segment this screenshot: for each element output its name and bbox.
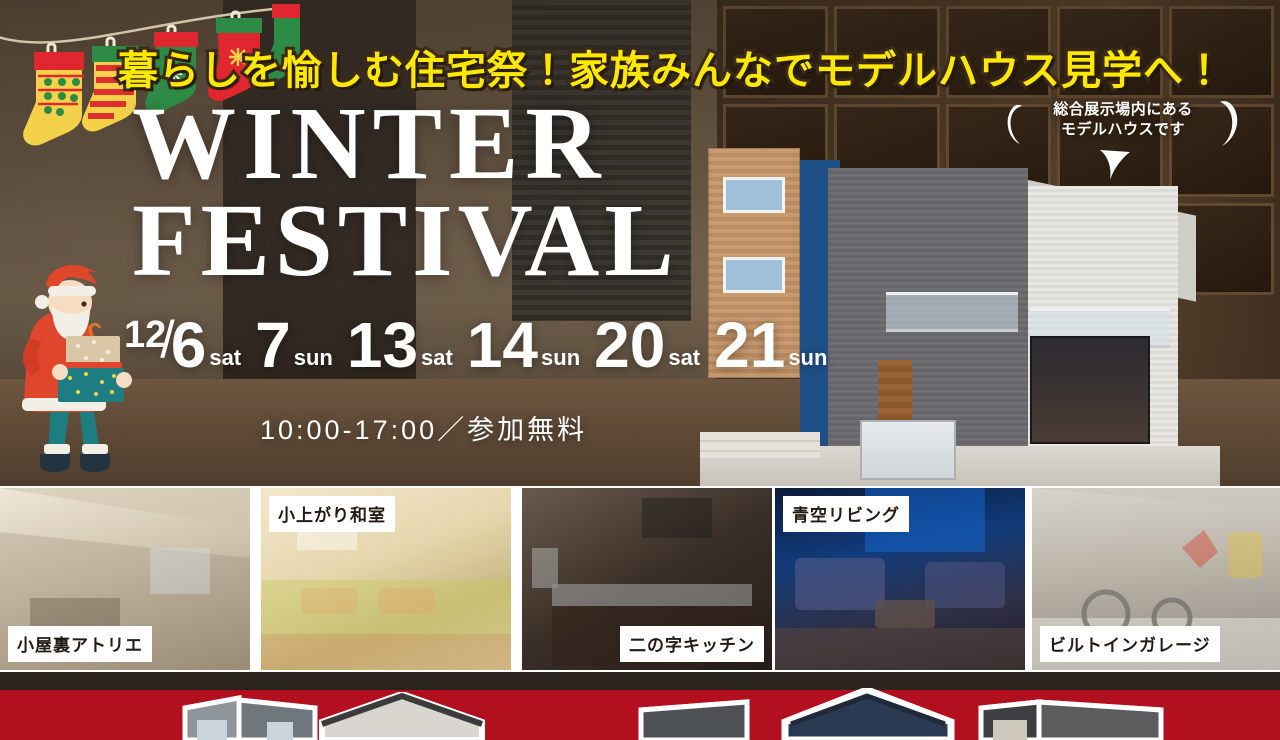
model-house-callout: 総合展示場内にある モデルハウスです [1018,100,1228,141]
date-dow: sun [788,347,827,369]
event-time-and-fee: 10:00-17:00／参加無料 [260,408,587,447]
date-dow: sat [421,347,453,369]
house-cutout-1 [175,694,325,740]
house-cutout-2 [310,692,495,740]
house-cutout-5 [975,692,1175,740]
photo-kitchen[interactable]: 二の字キッチン [522,488,772,670]
bottom-red-band [0,690,1280,740]
date-day: 21 [714,318,785,372]
photo-caption: ビルトインガレージ [1040,626,1220,662]
event-dates: 12 / 6 sat 7 sun 13 sat 14 sun 20 sat [124,318,841,372]
date-day: 7 [255,318,291,372]
photo-attic-atelier[interactable]: 小屋裏アトリエ [0,488,250,670]
photo-caption: 二の字キッチン [620,626,764,662]
photo-caption: 青空リビング [783,496,909,532]
callout-line1: 総合展示場内にある [1018,100,1228,120]
date-slash: / [160,314,174,366]
date-day: 14 [467,318,538,372]
photo-caption: 小上がり和室 [269,496,395,532]
date-dow: sat [668,347,700,369]
date-item: 21 sun [714,318,827,372]
date-day: 6 [171,318,207,372]
date-item: 20 sat [594,318,700,372]
photo-sky-living[interactable]: 青空リビング [775,488,1025,670]
date-dow: sun [294,347,333,369]
hero-section: 暮らしを愉しむ住宅祭！家族みんなでモデルハウス見学へ！ WINTER FESTI… [0,0,1280,486]
house-cutout-3 [635,696,755,740]
date-item: 6 sat [171,318,241,372]
photo-strip: 小屋裏アトリエ 小上がり和室 二の字キッチン [0,486,1280,672]
date-day: 13 [347,318,418,372]
date-day: 20 [594,318,665,372]
photo-built-in-garage[interactable]: ビルトインガレージ [1032,488,1280,670]
photo-tatami-room[interactable]: 小上がり和室 [261,488,511,670]
date-dow: sun [541,347,580,369]
photo-caption: 小屋裏アトリエ [8,626,152,662]
date-item: 7 sun [255,318,333,372]
event-title-line2: FESTIVAL [132,193,679,290]
santa-illustration [8,262,138,474]
date-item: 13 sat [347,318,453,372]
event-title-line1: WINTER [132,96,679,193]
house-cutout-4 [775,688,960,740]
date-dow: sat [209,347,241,369]
date-item: 14 sun [467,318,580,372]
winter-festival-banner: 暮らしを愉しむ住宅祭！家族みんなでモデルハウス見学へ！ WINTER FESTI… [0,0,1280,740]
event-title: WINTER FESTIVAL [132,96,679,289]
callout-line2: モデルハウスです [1018,120,1228,140]
